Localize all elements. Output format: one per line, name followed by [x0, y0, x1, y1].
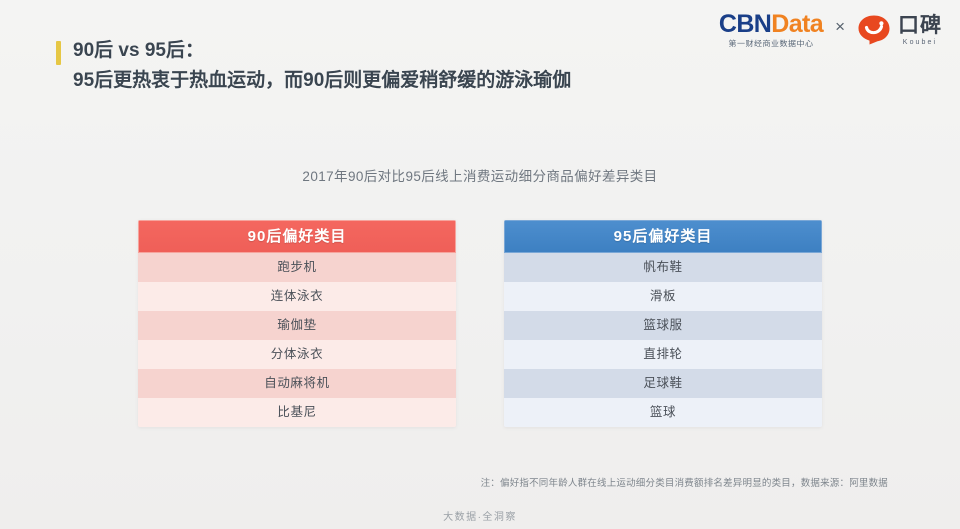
preference-tables: 90后偏好类目 跑步机 连体泳衣 瑜伽垫 分体泳衣 自动麻将机 比基尼 95后偏…: [138, 220, 822, 427]
koubei-smile-icon: [857, 14, 891, 46]
table-row: 跑步机: [138, 253, 456, 282]
chart-caption: 2017年90后对比95后线上消费运动细分商品偏好差异类目: [0, 165, 960, 185]
cbndata-logo: CBNData 第一财经商业数据中心: [719, 12, 823, 48]
title-line-1: 90后 vs 95后：: [73, 38, 571, 63]
table-row: 足球鞋: [504, 369, 822, 398]
koubei-name-en: Koubei: [903, 39, 937, 46]
table-row: 比基尼: [138, 398, 456, 427]
koubei-text: 口碑 Koubei: [898, 15, 942, 46]
koubei-logo: 口碑 Koubei: [857, 14, 942, 46]
table-row: 瑜伽垫: [138, 311, 456, 340]
table-row: 分体泳衣: [138, 340, 456, 369]
table-90s-preferences: 90后偏好类目 跑步机 连体泳衣 瑜伽垫 分体泳衣 自动麻将机 比基尼: [138, 220, 456, 427]
table-95s-preferences: 95后偏好类目 帆布鞋 滑板 篮球服 直排轮 足球鞋 篮球: [504, 220, 822, 427]
brand-separator-x: ×: [834, 17, 846, 37]
table-95s-header: 95后偏好类目: [504, 220, 822, 253]
table-row: 帆布鞋: [504, 253, 822, 282]
slide-canvas: CBNData 第一财经商业数据中心 × 口碑 Koubei 90后 vs 95…: [0, 0, 960, 529]
table-90s-header: 90后偏好类目: [138, 220, 456, 253]
table-row: 自动麻将机: [138, 369, 456, 398]
brand-bar: CBNData 第一财经商业数据中心 × 口碑 Koubei: [719, 12, 942, 48]
table-row: 篮球: [504, 398, 822, 427]
title-accent-bar: [56, 41, 61, 65]
footer-tagline: 大数据·全洞察: [0, 508, 960, 523]
title-block: 90后 vs 95后： 95后更热衷于热血运动，而90后则更偏爱稍舒缓的游泳瑜伽: [56, 38, 571, 93]
cbndata-wordmark-primary: CBN: [719, 10, 771, 38]
table-row: 连体泳衣: [138, 282, 456, 311]
cbndata-subtitle: 第一财经商业数据中心: [728, 40, 813, 47]
footnote: 注：偏好指不同年龄人群在线上运动细分类目消费额排名差异明显的类目，数据来源：阿里…: [481, 475, 888, 489]
table-row: 滑板: [504, 282, 822, 311]
cbndata-wordmark-secondary: Data: [771, 10, 823, 38]
table-row: 直排轮: [504, 340, 822, 369]
title-line-2: 95后更热衷于热血运动，而90后则更偏爱稍舒缓的游泳瑜伽: [73, 68, 571, 93]
koubei-name-cn: 口碑: [898, 15, 942, 36]
table-row: 篮球服: [504, 311, 822, 340]
title-lines: 90后 vs 95后： 95后更热衷于热血运动，而90后则更偏爱稍舒缓的游泳瑜伽: [73, 38, 571, 93]
cbndata-wordmark: CBNData: [719, 12, 823, 37]
